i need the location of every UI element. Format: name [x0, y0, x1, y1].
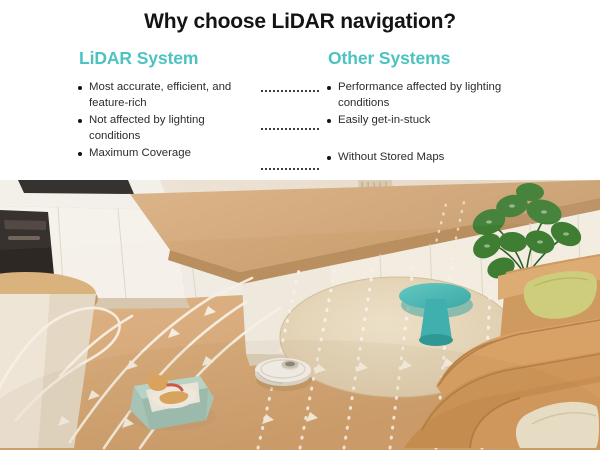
dotted-connector: [261, 168, 319, 170]
list-item-label: Performance affected by lighting conditi…: [338, 80, 522, 111]
column-heading-lidar: LiDAR System: [79, 48, 198, 69]
list-item: Maximum Coverage: [78, 146, 258, 162]
bullet-dot-icon: [327, 86, 331, 90]
list-item: Most accurate, efficient, and feature-ri…: [78, 80, 258, 111]
bullet-dot-icon: [78, 119, 82, 123]
list-item: Not affected by lighting conditions: [78, 113, 258, 144]
list-item-label: Easily get-in-stuck: [338, 113, 430, 129]
column-heading-other: Other Systems: [328, 48, 450, 69]
list-item-label: Maximum Coverage: [89, 146, 191, 162]
dotted-connector: [261, 90, 319, 92]
list-item-label: Not affected by lighting conditions: [89, 113, 258, 144]
list-item: Without Stored Maps: [327, 150, 522, 166]
list-item: Easily get-in-stuck: [327, 113, 522, 129]
list-item-label: Most accurate, efficient, and feature-ri…: [89, 80, 258, 111]
bullet-dot-icon: [327, 119, 331, 123]
bullet-dot-icon: [78, 86, 82, 90]
other-systems-list: Performance affected by lighting conditi…: [327, 80, 522, 167]
bullet-dot-icon: [78, 152, 82, 156]
comparison-panel: Why choose LiDAR navigation? LiDAR Syste…: [0, 0, 600, 180]
page-title: Why choose LiDAR navigation?: [0, 10, 600, 34]
living-room-photo: [0, 180, 600, 450]
list-item-label: Without Stored Maps: [338, 150, 444, 166]
list-item: Performance affected by lighting conditi…: [327, 80, 522, 111]
lidar-feature-list: Most accurate, efficient, and feature-ri…: [78, 80, 258, 164]
dotted-connector: [261, 128, 319, 130]
bullet-dot-icon: [327, 156, 331, 160]
lidar-navigation-infographic: Why choose LiDAR navigation? LiDAR Syste…: [0, 0, 600, 450]
